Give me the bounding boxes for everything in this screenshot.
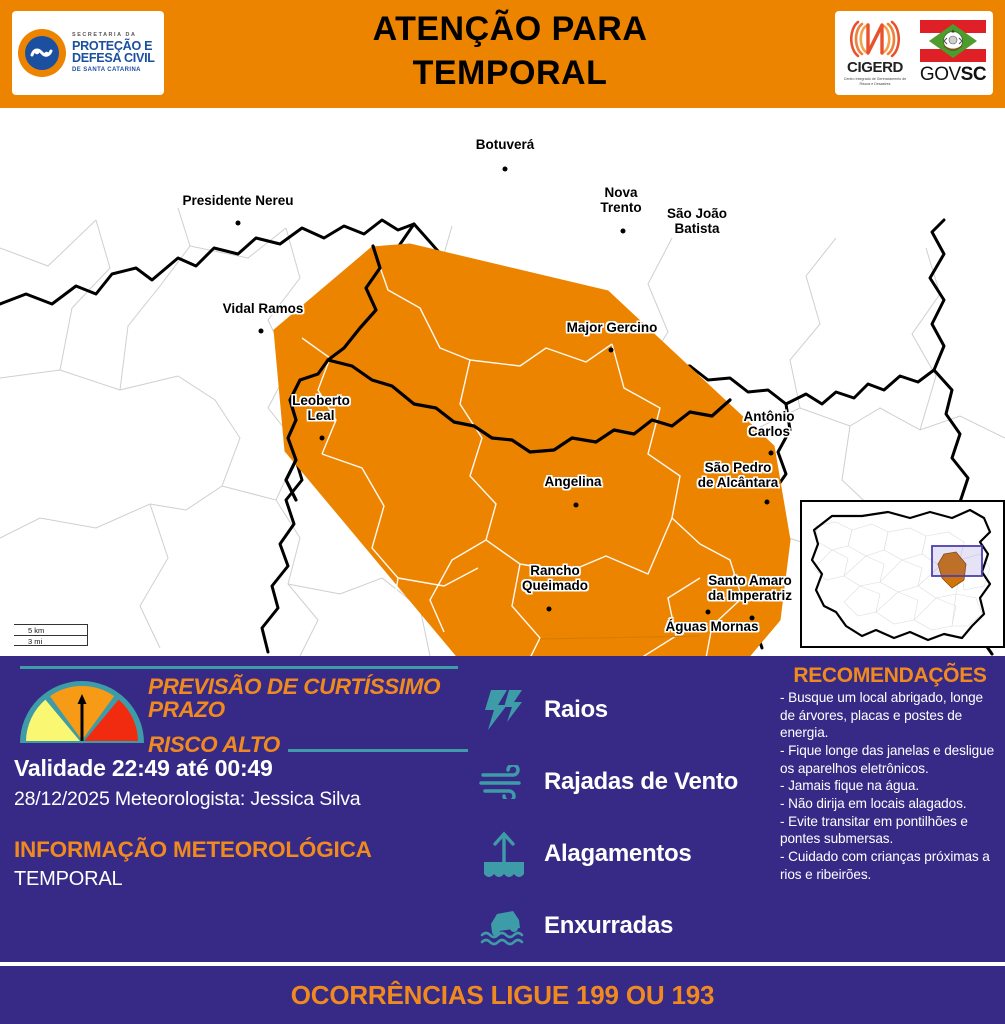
hazard-item-enxurradas: Enxurradas bbox=[478, 890, 768, 962]
city-dot bbox=[503, 167, 508, 172]
risk-rule bbox=[288, 749, 468, 752]
flashflood-icon bbox=[478, 903, 530, 949]
city-dot bbox=[609, 348, 614, 353]
weather-alert-bulletin: SECRETARIA DA PROTEÇÃO E DEFESA CIVIL DE… bbox=[0, 0, 1005, 1024]
alert-title: ATENÇÃO PARA TEMPORAL bbox=[230, 8, 790, 95]
city-dot bbox=[236, 221, 241, 226]
city-dot bbox=[710, 210, 715, 215]
scalebar-mi: 3 mi bbox=[14, 635, 88, 646]
scalebar-km: 5 km bbox=[14, 624, 88, 635]
recommendation-item: - Evite transitar em pontilhões e pontes… bbox=[780, 813, 1000, 848]
hazard-item-alagamentos: Alagamentos bbox=[478, 818, 768, 890]
top-rule bbox=[20, 666, 458, 669]
emergency-phone-text: OCORRÊNCIAS LIGUE 199 OU 193 bbox=[291, 980, 715, 1011]
hazard-item-rajadas-de-vento: Rajadas de Vento bbox=[478, 746, 768, 818]
recommendations-title: RECOMENDAÇÕES bbox=[780, 664, 1000, 688]
hazard-item-raios: Raios bbox=[478, 674, 768, 746]
city-dot bbox=[769, 451, 774, 456]
city-dot bbox=[547, 607, 552, 612]
flood-icon bbox=[478, 831, 530, 877]
recommendations-list: - Busque um local abrigado, longe de árv… bbox=[780, 689, 1000, 883]
cigerd-name: CIGERD bbox=[847, 59, 903, 76]
alert-title-line2: TEMPORAL bbox=[230, 52, 790, 96]
city-dot bbox=[259, 329, 264, 334]
alert-map[interactable]: Botuverá Presidente Nereu Nova Trento Sã… bbox=[0, 108, 1005, 656]
date-meteorologist-text: 28/12/2025 Meteorologista: Jessica Silva bbox=[14, 788, 466, 811]
scalebar-tick bbox=[87, 636, 88, 645]
risk-texts: PREVISÃO DE CURTÍSSIMO PRAZO RISCO ALTO bbox=[148, 675, 468, 758]
hazard-label: Enxurradas bbox=[544, 912, 673, 940]
defesa-civil-emblem-icon bbox=[18, 29, 66, 77]
hazard-label: Rajadas de Vento bbox=[544, 768, 738, 796]
city-dot bbox=[706, 610, 711, 615]
inset-highlight-rect bbox=[932, 546, 982, 576]
city-dot bbox=[574, 503, 579, 508]
recommendation-item: - Fique longe das janelas e desligue os … bbox=[780, 742, 1000, 777]
meteorological-info-body: TEMPORAL bbox=[14, 868, 466, 891]
santa-catarina-flag-icon bbox=[920, 20, 986, 62]
forecast-label: PREVISÃO DE CURTÍSSIMO PRAZO bbox=[148, 675, 468, 722]
logo-line-santa-catarina: DE SANTA CATARINA bbox=[72, 67, 155, 73]
cigerd-subtitle: Centro Integrado de Gerenciamento de Ris… bbox=[839, 77, 911, 86]
hazard-label: Alagamentos bbox=[544, 840, 691, 868]
header-banner: SECRETARIA DA PROTEÇÃO E DEFESA CIVIL DE… bbox=[0, 0, 1005, 108]
lightning-icon bbox=[478, 687, 530, 733]
recommendations-column: RECOMENDAÇÕES - Busque um local abrigado… bbox=[780, 664, 1000, 883]
risk-gauge-icon bbox=[18, 679, 146, 745]
govsc-logo: GOVSC bbox=[918, 20, 988, 86]
map-scalebar: 5 km 3 mi bbox=[14, 624, 88, 646]
risk-column: PREVISÃO DE CURTÍSSIMO PRAZO RISCO ALTO … bbox=[14, 666, 466, 891]
hazard-label: Raios bbox=[544, 696, 608, 724]
inset-canvas bbox=[802, 502, 1003, 646]
wind-icon bbox=[478, 759, 530, 805]
cigerd-mark-icon bbox=[850, 20, 900, 58]
info-panel: PREVISÃO DE CURTÍSSIMO PRAZO RISCO ALTO … bbox=[0, 656, 1005, 962]
recommendation-item: - Jamais fique na água. bbox=[780, 777, 1000, 795]
logo-line-defesa-civil: DEFESA CIVIL bbox=[72, 52, 155, 65]
city-dot bbox=[621, 229, 626, 234]
recommendation-item: - Cuidado com crianças próximas a rios e… bbox=[780, 848, 1000, 883]
inset-locator-map[interactable] bbox=[800, 500, 1005, 648]
cigerd-govsc-logo: CIGERD Centro Integrado de Gerenciamento… bbox=[835, 11, 993, 95]
meteorological-info-heading: INFORMAÇÃO METEOROLÓGICA bbox=[14, 837, 466, 863]
recommendation-item: - Busque um local abrigado, longe de árv… bbox=[780, 689, 1000, 742]
risk-gauge-row: PREVISÃO DE CURTÍSSIMO PRAZO RISCO ALTO bbox=[14, 675, 466, 749]
footer-banner: OCORRÊNCIAS LIGUE 199 OU 193 bbox=[0, 966, 1005, 1024]
hazards-column: Raios Rajadas de Vento bbox=[478, 674, 768, 962]
scalebar-tick bbox=[87, 625, 88, 635]
city-dot bbox=[765, 500, 770, 505]
city-dot bbox=[750, 616, 755, 621]
validity-text: Validade 22:49 até 00:49 bbox=[14, 755, 466, 782]
govsc-wordmark: GOVSC bbox=[920, 64, 986, 86]
alert-title-line1: ATENÇÃO PARA bbox=[230, 8, 790, 52]
recommendation-item: - Não dirija em locais alagados. bbox=[780, 795, 1000, 813]
defesa-civil-logo: SECRETARIA DA PROTEÇÃO E DEFESA CIVIL DE… bbox=[12, 11, 164, 95]
risk-level-label: RISCO ALTO bbox=[148, 732, 280, 758]
cigerd-logo: CIGERD Centro Integrado de Gerenciamento… bbox=[839, 20, 911, 86]
city-dot bbox=[320, 436, 325, 441]
